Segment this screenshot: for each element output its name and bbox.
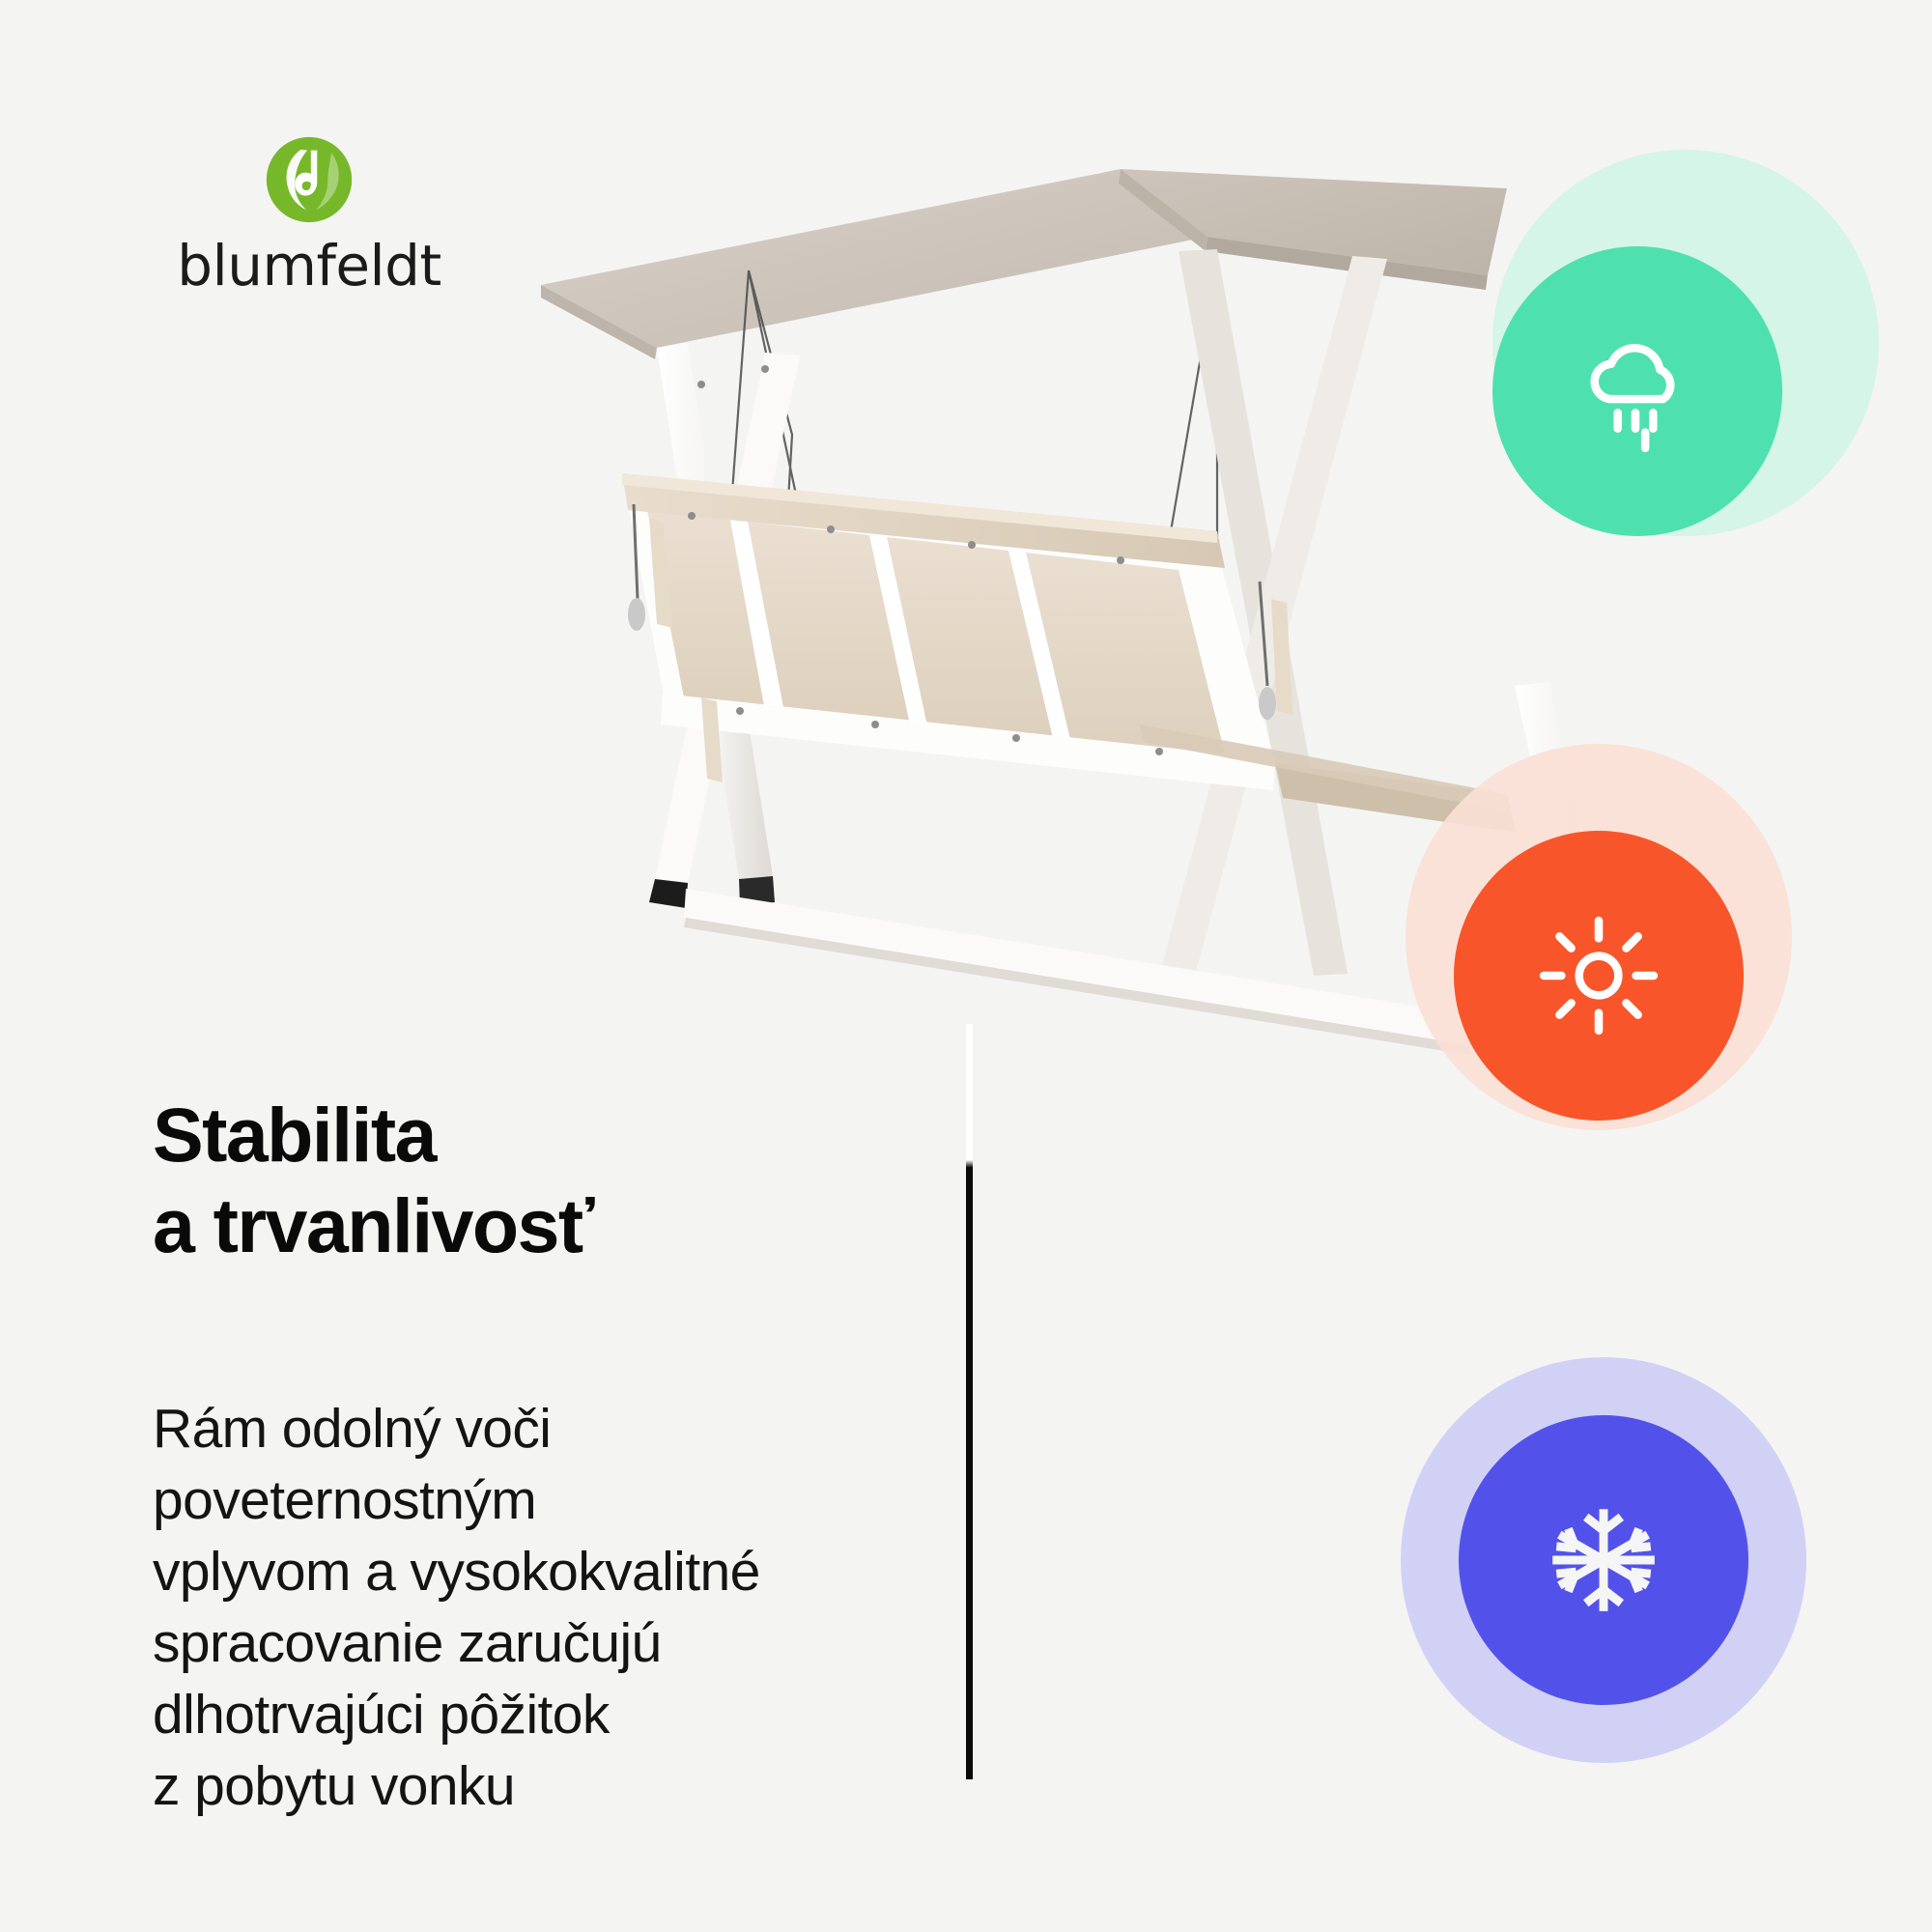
badge-snow[interactable] [1459,1415,1748,1705]
blumfeldt-leaf-b-mark-icon [265,135,354,224]
brand-wordmark: blumfeldt [145,238,473,294]
body-paragraph: Rám odolný voči poveternostným vplyvom a… [153,1393,925,1823]
snowflake-icon [1541,1497,1666,1623]
rain-cloud-icon [1575,328,1700,454]
sun-icon [1536,913,1662,1038]
vertical-rule [966,1024,973,1779]
badge-sun[interactable] [1454,831,1744,1121]
brand-logo: blumfeldt [145,135,473,294]
badge-rain[interactable] [1492,246,1782,536]
page-title: Stabilita a trvanlivosť [153,1090,887,1271]
infographic-canvas: blumfeldt [0,0,1932,1932]
